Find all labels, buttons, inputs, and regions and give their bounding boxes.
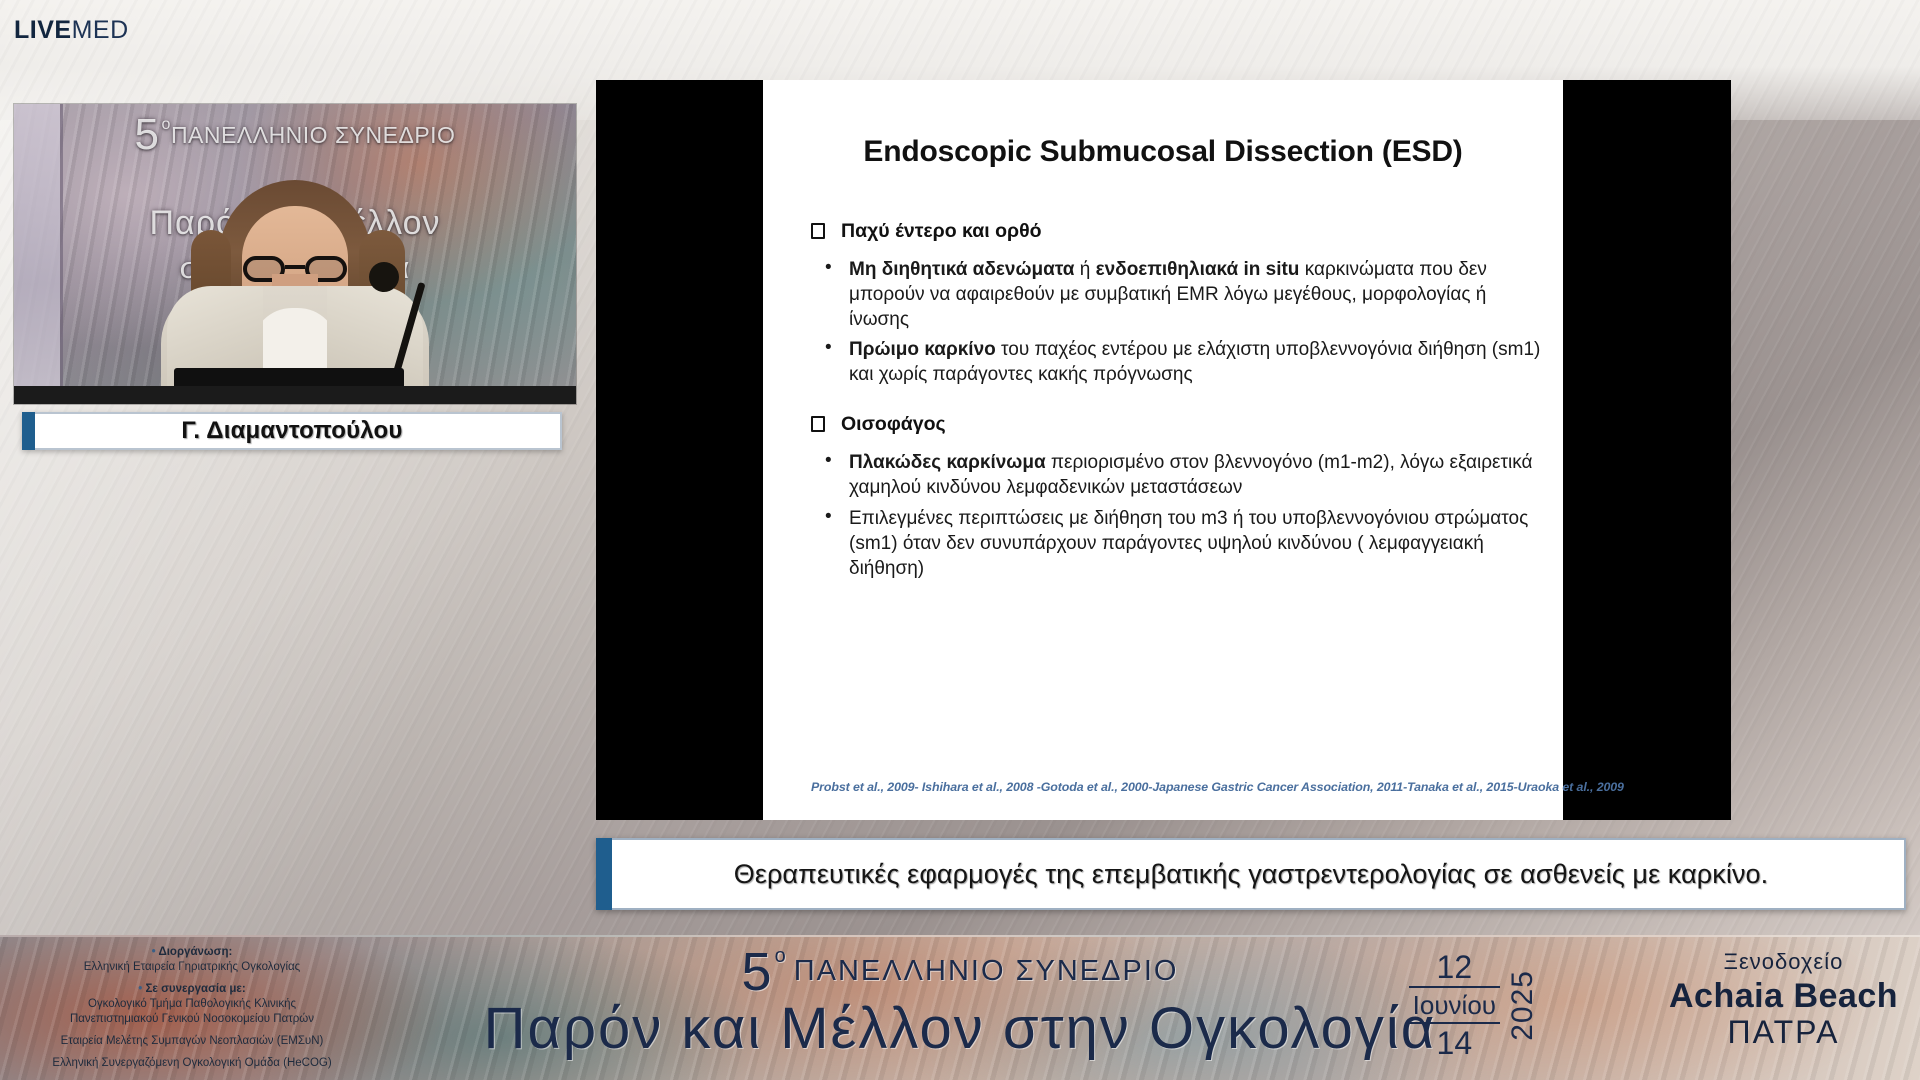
collaborator-1: Ογκολογικό Τμήμα Παθολογικής Κλινικής bbox=[12, 997, 372, 1012]
slide-content-area: Endoscopic Submucosal Dissection (ESD) Π… bbox=[763, 80, 1563, 820]
slide-section-heading-2: Οισοφάγος bbox=[811, 413, 1547, 436]
banner-edition-sup: ο bbox=[775, 945, 788, 967]
banner-congress-line: 5οΠΑΝΕΛΛΗΝΙΟ ΣΥΝΕΔΡΙΟ bbox=[435, 941, 1485, 1003]
slide-body: Παχύ έντερο και ορθό Μη διηθητικά αδενώμ… bbox=[811, 220, 1547, 607]
date-year: 2025 bbox=[1506, 970, 1540, 1041]
bullet-text-run: Επιλεγμένες περιπτώσεις με διήθηση του m… bbox=[849, 508, 1528, 579]
collaborator-2: Πανεπιστημιακού Γενικού Νοσοκομείου Πατρ… bbox=[12, 1012, 372, 1027]
desk-edge bbox=[14, 386, 576, 404]
slide-bullet-list-2: Πλακώδες καρκίνωμα περιορισμένο στον βλε… bbox=[811, 450, 1547, 580]
checkbox-square-icon bbox=[811, 416, 825, 432]
date-range: 12 Ιουνίου 14 bbox=[1409, 951, 1500, 1059]
list-item: Πρώιμο καρκίνο του παχέος εντέρου με ελά… bbox=[811, 337, 1547, 387]
glasses-bridge bbox=[285, 265, 305, 269]
banner-congress-title: Παρόν και Μέλλον στην Ογκολογία bbox=[435, 995, 1485, 1062]
collaborator-3: Εταιρεία Μελέτης Συμπαγών Νεοπλασιών (ΕΜ… bbox=[12, 1034, 372, 1049]
banner-organizers: • Διοργάνωση: Ελληνική Εταιρεία Γηριατρι… bbox=[12, 945, 372, 1071]
speaker-figure bbox=[155, 134, 435, 404]
date-month: Ιουνίου bbox=[1409, 986, 1500, 1024]
venue-label: Ξενοδοχείο bbox=[1669, 949, 1898, 975]
bullet-bold-run: Πλακώδες καρκίνωμα bbox=[849, 452, 1051, 473]
bullet-bold-run: ενδοεπιθηλιακά in situ bbox=[1096, 259, 1305, 280]
slide-section-heading-1: Παχύ έντερο και ορθό bbox=[811, 220, 1547, 243]
bullet-dot-icon: • bbox=[138, 983, 142, 995]
logo-light-text: MED bbox=[72, 16, 129, 44]
bullet-dot-icon: • bbox=[152, 946, 156, 958]
bullet-bold-run: Πρώιμο καρκίνο bbox=[849, 339, 1001, 360]
checkbox-square-icon bbox=[811, 223, 825, 239]
bullet-text-run: ή bbox=[1080, 259, 1096, 280]
organizer-label-text: Διοργάνωση: bbox=[158, 946, 232, 958]
list-item: Επιλεγμένες περιπτώσεις με διήθηση του m… bbox=[811, 506, 1547, 581]
speaker-video-panel[interactable]: 5οΠΑΝΕΛΛΗΝΙΟ ΣΥΝΕΔΡΙΟ Παρόν και Μέλλον σ… bbox=[14, 104, 576, 404]
banner-edition-number: 5 bbox=[742, 942, 774, 1002]
speaker-video-feed[interactable]: 5οΠΑΝΕΛΛΗΝΙΟ ΣΥΝΕΔΡΙΟ Παρόν και Μέλλον σ… bbox=[14, 104, 576, 404]
logo-bold-text: LIVE bbox=[14, 16, 72, 44]
organizer-label: • Διοργάνωση: bbox=[12, 945, 372, 960]
banner-venue-block: Ξενοδοχείο Achaia Beach ΠΑΤΡΑ bbox=[1669, 949, 1898, 1051]
slide-title: Endoscopic Submucosal Dissection (ESD) bbox=[763, 135, 1563, 169]
backdrop-edition-sup: ο bbox=[162, 116, 171, 133]
slide-bullet-list-1: Μη διηθητικά αδενώματα ή ενδοεπιθηλιακά … bbox=[811, 257, 1547, 387]
microphone-head bbox=[369, 262, 399, 292]
section-heading-text-1: Παχύ έντερο και ορθό bbox=[841, 220, 1042, 243]
session-title-text: Θεραπευτικές εφαρμογές της επεμβατικής γ… bbox=[598, 859, 1904, 890]
venue-name: Achaia Beach bbox=[1669, 977, 1898, 1016]
slide-citation: Probst et al., 2009- Ishihara et al., 20… bbox=[811, 780, 1549, 794]
list-item: Πλακώδες καρκίνωμα περιορισμένο στον βλε… bbox=[811, 450, 1547, 500]
bullet-bold-run: Μη διηθητικά αδενώματα bbox=[849, 259, 1080, 280]
venue-city: ΠΑΤΡΑ bbox=[1669, 1014, 1898, 1051]
list-item: Μη διηθητικά αδενώματα ή ενδοεπιθηλιακά … bbox=[811, 257, 1547, 332]
livemed-logo: LIVEMED bbox=[14, 16, 129, 45]
banner-congress-text: ΠΑΝΕΛΛΗΝΙΟ ΣΥΝΕΔΡΙΟ bbox=[794, 955, 1179, 987]
speaker-name: Γ. Διαμαντοπούλου bbox=[181, 417, 402, 445]
speaker-nameplate: Γ. Διαμαντοπούλου bbox=[22, 412, 562, 450]
section-heading-text-2: Οισοφάγος bbox=[841, 413, 946, 436]
banner-congress-title-block: 5οΠΑΝΕΛΛΗΝΙΟ ΣΥΝΕΔΡΙΟ Παρόν και Μέλλον σ… bbox=[435, 941, 1485, 1062]
congress-bottom-banner: • Διοργάνωση: Ελληνική Εταιρεία Γηριατρι… bbox=[0, 935, 1920, 1080]
collaborator-4: Ελληνική Συνεργαζόμενη Ογκολογική Ομάδα … bbox=[12, 1056, 372, 1071]
organizer-name: Ελληνική Εταιρεία Γηριατρικής Ογκολογίας bbox=[12, 960, 372, 975]
date-from: 12 bbox=[1409, 951, 1500, 983]
date-to: 14 bbox=[1409, 1027, 1500, 1059]
banner-date-block: 12 Ιουνίου 14 2025 bbox=[1409, 951, 1540, 1059]
presentation-slide[interactable]: Endoscopic Submucosal Dissection (ESD) Π… bbox=[596, 80, 1731, 820]
collaborators-label-text: Σε συνεργασία με: bbox=[146, 983, 246, 995]
session-title-bar: Θεραπευτικές εφαρμογές της επεμβατικής γ… bbox=[596, 838, 1906, 910]
collaborators-label: • Σε συνεργασία με: bbox=[12, 982, 372, 997]
